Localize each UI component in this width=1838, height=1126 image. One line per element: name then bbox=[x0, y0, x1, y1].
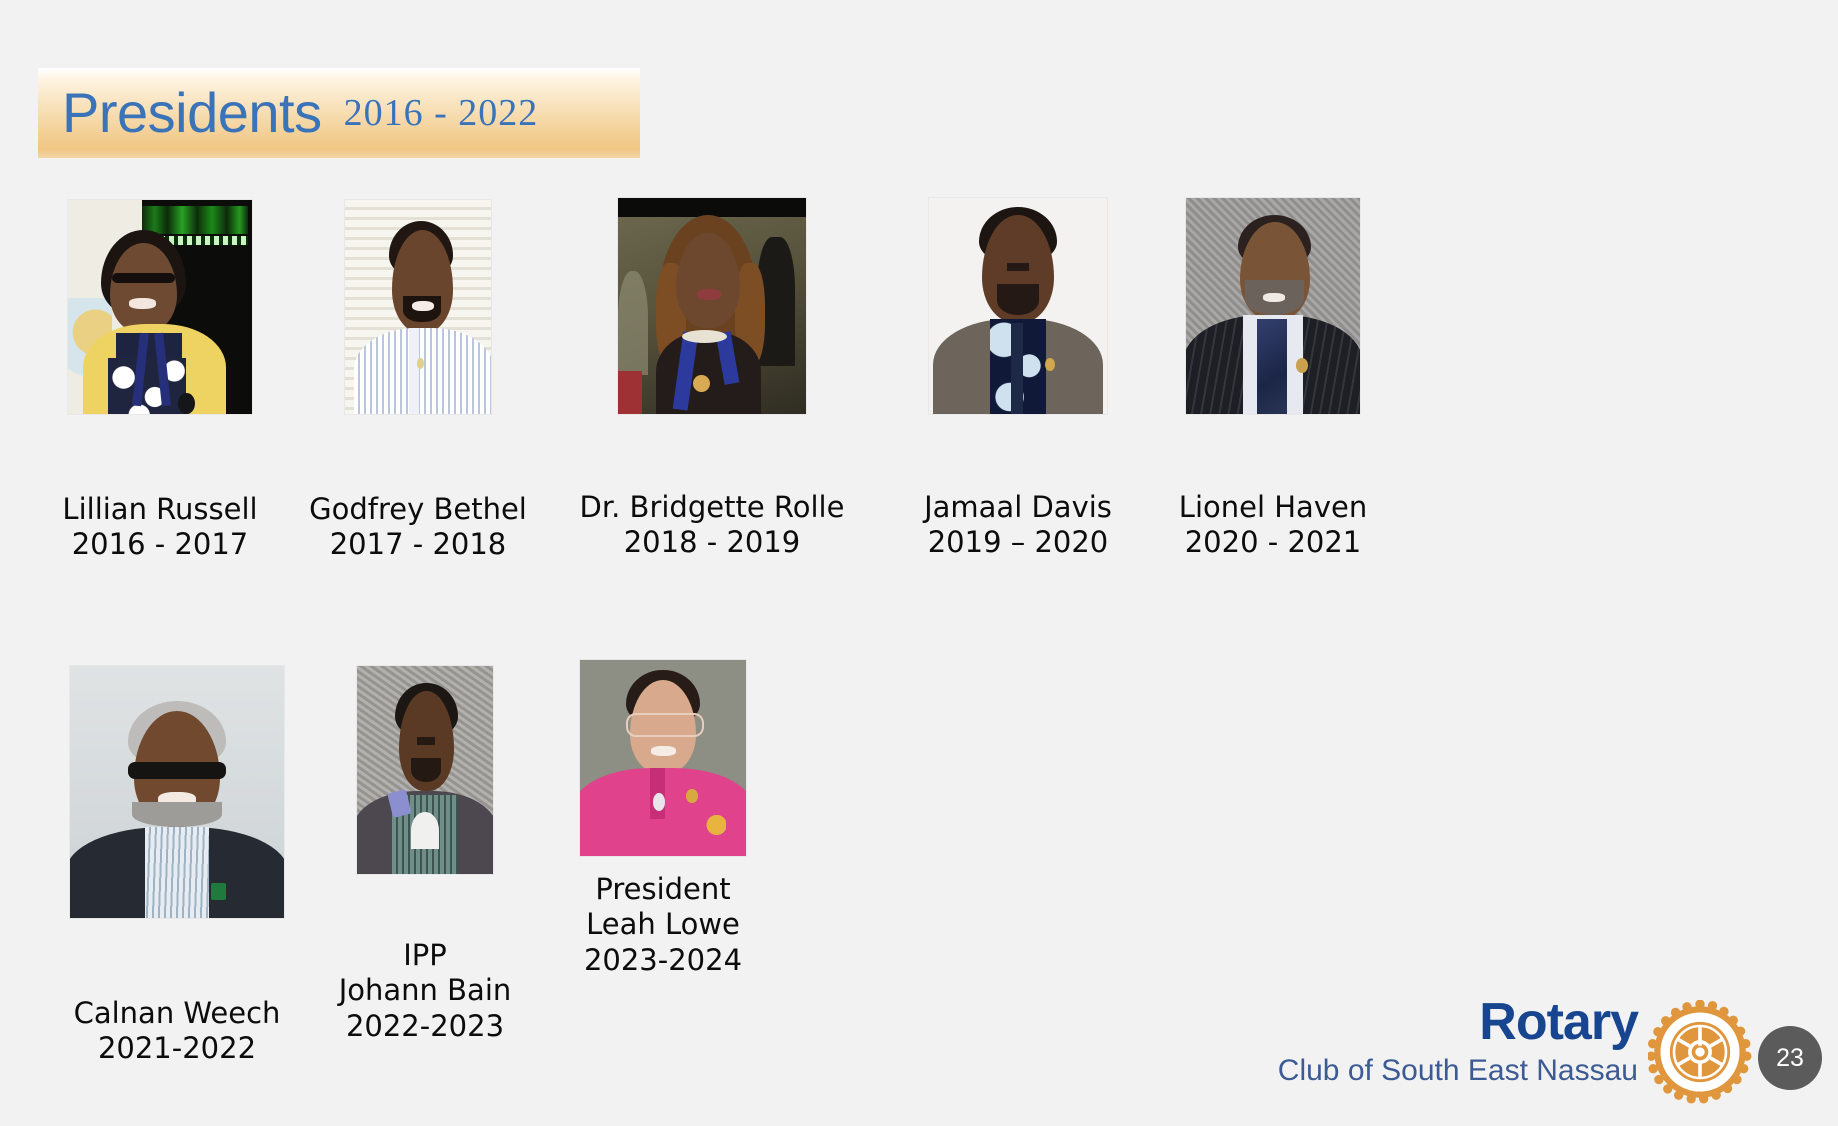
portrait-frame bbox=[68, 200, 252, 476]
portrait-photo bbox=[357, 666, 493, 874]
page-title-years: 2016 - 2022 bbox=[344, 94, 539, 132]
president-caption: Dr. Bridgette Rolle 2018 - 2019 bbox=[529, 490, 895, 561]
president-card: Dr. Bridgette Rolle 2018 - 2019 bbox=[529, 198, 895, 561]
portrait-reflection bbox=[618, 416, 806, 474]
portrait-reflection bbox=[345, 416, 491, 476]
portrait-photo bbox=[70, 666, 284, 918]
portrait-reflection bbox=[929, 416, 1107, 474]
portrait-photo bbox=[929, 198, 1107, 414]
portrait-reflection bbox=[1186, 416, 1360, 474]
president-name: Leah Lowe bbox=[545, 907, 781, 942]
president-caption: IPP Johann Bain 2022-2023 bbox=[300, 938, 550, 1044]
portrait-frame bbox=[580, 660, 746, 856]
portrait-reflection bbox=[68, 416, 252, 476]
portrait-frame bbox=[70, 666, 284, 982]
page-title-banner: Presidents 2016 - 2022 bbox=[38, 68, 640, 158]
president-term: 2017 - 2018 bbox=[268, 527, 568, 562]
portrait-frame bbox=[929, 198, 1107, 474]
portrait-reflection bbox=[357, 876, 493, 930]
portrait-reflection bbox=[70, 920, 284, 982]
president-name: Dr. Bridgette Rolle bbox=[529, 490, 895, 525]
slide-canvas: Presidents 2016 - 2022 bbox=[0, 0, 1838, 1126]
portrait-photo bbox=[580, 660, 746, 856]
portrait-photo bbox=[345, 200, 491, 414]
portrait-photo bbox=[68, 200, 252, 414]
president-term: 2018 - 2019 bbox=[529, 525, 895, 560]
president-role: IPP bbox=[300, 938, 550, 973]
president-card: Godfrey Bethel 2017 - 2018 bbox=[268, 200, 568, 563]
president-card: President Leah Lowe 2023-2024 bbox=[545, 660, 781, 978]
rotary-wordmark: Rotary bbox=[1278, 996, 1638, 1048]
page-title: Presidents bbox=[62, 85, 322, 141]
portrait-frame bbox=[345, 200, 491, 476]
president-name: Lionel Haven bbox=[1110, 490, 1436, 525]
president-term: 2023-2024 bbox=[545, 943, 781, 978]
president-caption: Godfrey Bethel 2017 - 2018 bbox=[268, 492, 568, 563]
rotary-club-name: Club of South East Nassau bbox=[1278, 1052, 1638, 1090]
president-term: 2020 - 2021 bbox=[1110, 525, 1436, 560]
president-caption: President Leah Lowe 2023-2024 bbox=[545, 872, 781, 978]
portrait-photo bbox=[618, 198, 806, 414]
president-card: IPP Johann Bain 2022-2023 bbox=[300, 666, 550, 1044]
rotary-wheel-icon: ROTARY INTERNATIONAL bbox=[1648, 1000, 1752, 1104]
page-number-badge: 23 bbox=[1758, 1026, 1822, 1090]
president-card: Lionel Haven 2020 - 2021 bbox=[1110, 198, 1436, 561]
president-name: Godfrey Bethel bbox=[268, 492, 568, 527]
president-caption: Lionel Haven 2020 - 2021 bbox=[1110, 490, 1436, 561]
portrait-photo bbox=[1186, 198, 1360, 414]
president-role: President bbox=[545, 872, 781, 907]
portrait-frame bbox=[357, 666, 493, 930]
portrait-frame bbox=[618, 198, 806, 474]
president-term: 2022-2023 bbox=[300, 1009, 550, 1044]
portrait-frame bbox=[1186, 198, 1360, 474]
rotary-branding: Rotary Club of South East Nassau bbox=[1278, 996, 1752, 1104]
president-name: Johann Bain bbox=[300, 973, 550, 1008]
